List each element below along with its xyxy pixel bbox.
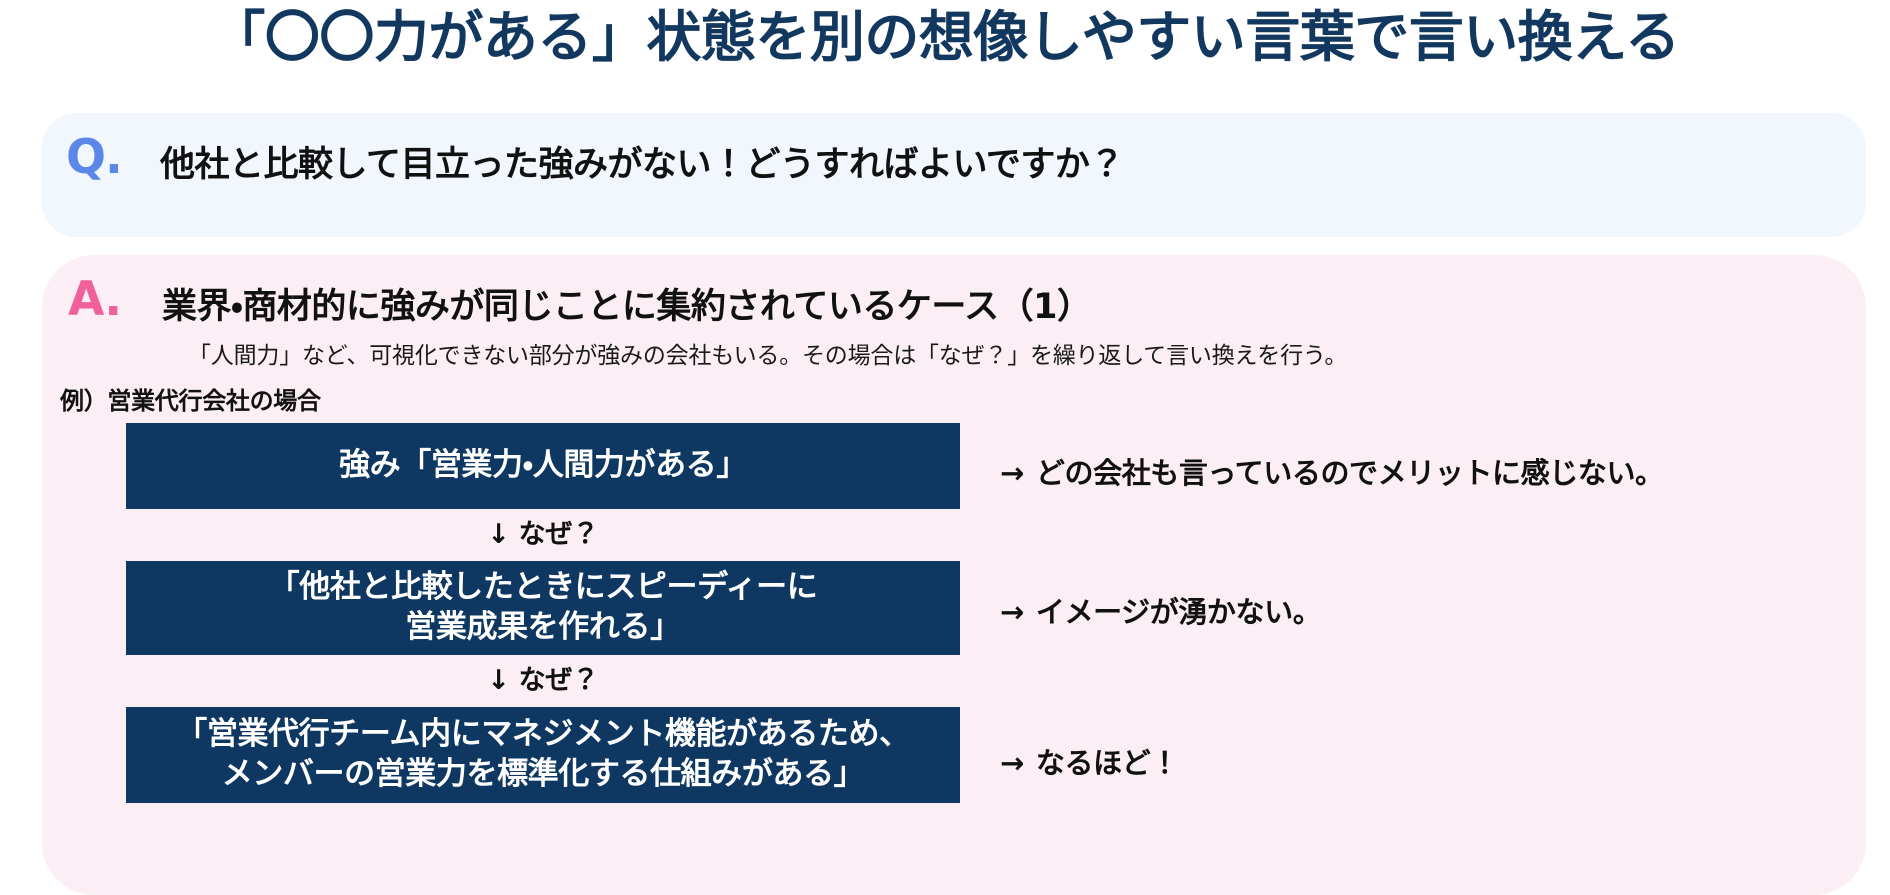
question-text: 他社と比較して目立った強みがない！どうすればよいですか？ <box>160 136 1124 187</box>
right-arrow-icon: → <box>1000 746 1024 780</box>
flow-connector-2: ↓ なぜ？ <box>126 655 960 707</box>
flow-step-2-line-2: 営業成果を作れる」 <box>269 608 818 648</box>
flow-reaction-2-text: イメージが湧かない。 <box>1036 595 1321 629</box>
answer-marker: A. <box>68 272 121 327</box>
rephrasing-flow: 強み「営業力・人間力がある」 ↓ なぜ？ 「他社と比較したときにスピーディーに … <box>126 423 960 803</box>
page-title: 「〇〇力がある」状態を別の想像しやすい言葉で言い換える <box>0 6 1890 69</box>
flow-step-3-line-2: メンバーの営業力を標準化する仕組みがある」 <box>176 755 909 795</box>
flow-step-3-line-1: 「営業代行チーム内にマネジメント機能があるため、 <box>176 715 909 755</box>
example-label: 例）営業代行会社の場合 <box>60 381 321 416</box>
flow-step-box-3: 「営業代行チーム内にマネジメント機能があるため、 メンバーの営業力を標準化する仕… <box>126 707 960 803</box>
flow-step-box-1: 強み「営業力・人間力がある」 <box>126 423 960 509</box>
answer-note: 「人間力」など、可視化できない部分が強みの会社もいる。その場合は「なぜ？」を繰り… <box>188 336 1347 370</box>
answer-heading: 業界・商材的に強みが同じことに集約されているケース（1） <box>162 278 1091 329</box>
flow-reaction-1-text: どの会社も言っているのでメリットに感じない。 <box>1036 456 1664 490</box>
flow-step-box-2: 「他社と比較したときにスピーディーに 営業成果を作れる」 <box>126 561 960 655</box>
flow-reaction-1: →どの会社も言っているのでメリットに感じない。 <box>1000 450 1664 492</box>
flow-reaction-2: →イメージが湧かない。 <box>1000 589 1321 631</box>
flow-reaction-3-text: なるほど！ <box>1036 746 1179 780</box>
flow-reaction-3: →なるほど！ <box>1000 740 1179 782</box>
right-arrow-icon: → <box>1000 456 1024 490</box>
right-arrow-icon: → <box>1000 595 1024 629</box>
question-marker: Q. <box>66 130 122 185</box>
flow-step-2-line-1: 「他社と比較したときにスピーディーに <box>269 568 818 608</box>
flow-step-1-line-1: 強み「営業力・人間力がある」 <box>339 446 747 486</box>
flow-connector-1: ↓ なぜ？ <box>126 509 960 561</box>
